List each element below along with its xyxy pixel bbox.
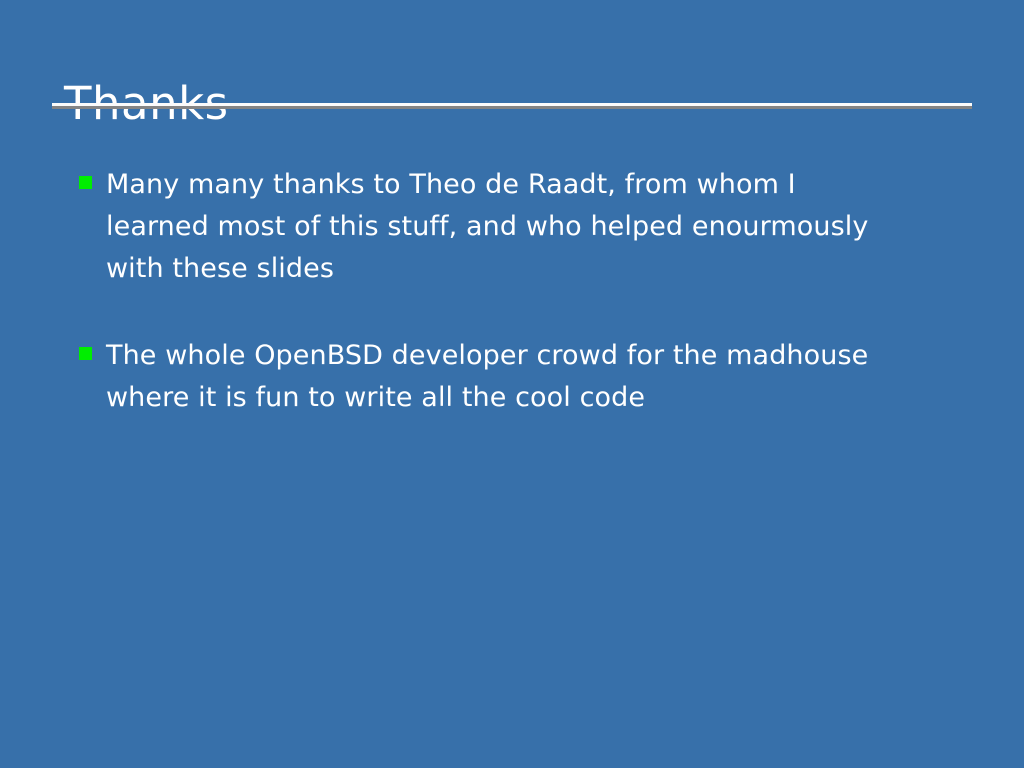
rule-shadow-edge xyxy=(52,106,972,109)
title-underline-rule xyxy=(52,103,972,109)
slide-bullet-list: Many many thanks to Theo de Raadt, from … xyxy=(79,164,959,419)
list-item: The whole OpenBSD developer crowd for th… xyxy=(79,335,959,419)
bullet-text: The whole OpenBSD developer crowd for th… xyxy=(106,335,906,419)
presentation-slide: Thanks Many many thanks to Theo de Raadt… xyxy=(0,0,1024,768)
list-item: Many many thanks to Theo de Raadt, from … xyxy=(79,164,959,290)
green-square-bullet-icon xyxy=(79,176,92,189)
bullet-text: Many many thanks to Theo de Raadt, from … xyxy=(106,164,906,290)
green-square-bullet-icon xyxy=(79,347,92,360)
